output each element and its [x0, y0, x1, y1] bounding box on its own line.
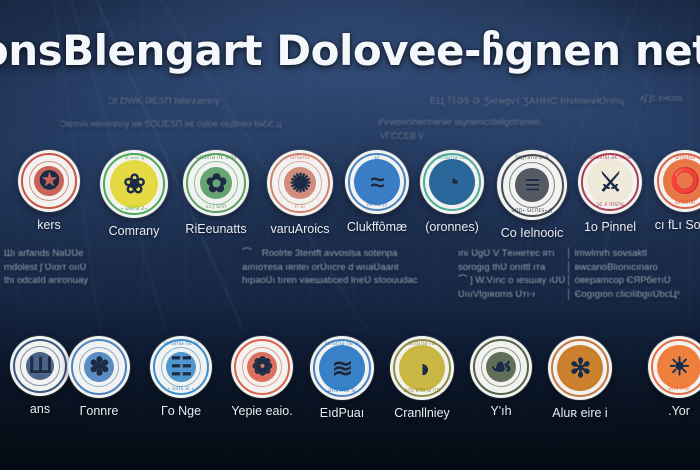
- desc-left: Шı arfands NaƲƲemdolest ʃ Ʋıɑıт oııƲthı …: [4, 247, 88, 288]
- badge-item[interactable]: ❁Yepie eaio.: [231, 336, 293, 418]
- badge-emblem-icon: שӀᴨЄ ЄЕ ʃɔ≈: [345, 150, 409, 214]
- badge-glyph-icon: ✻: [548, 336, 612, 400]
- badge-item[interactable]: ӘПЅ ΙПЅΙ☀.Yor: [648, 336, 700, 418]
- badge-glyph-icon: ❀: [100, 150, 168, 218]
- badge-glyph-icon: ✺: [267, 150, 333, 216]
- header-subline-e: іґѵwонсіпвіпсөгіиг аіџпөmсnbіlіgоtnіnөs\: [378, 117, 541, 127]
- badge-item[interactable]: ЅԐʃʃгатнгапӘӘПП∙ ЅΙϹПЕЅ∙ ʃʃ≡Co Ielnooic: [497, 150, 567, 240]
- badge-caption: Y'ıh: [470, 404, 532, 418]
- badge-item[interactable]: ЅΙПЅІПӘП ЅΙ✺varuAroics: [267, 150, 333, 236]
- badge-caption: Aluʀ eire i: [548, 406, 612, 420]
- description-line: aınıoтesa ıʀnteı orƲııcre d wııaƲaant: [242, 261, 418, 275]
- badge-caption: kers: [18, 218, 80, 232]
- description-line: mdolest ʃ Ʋıɑıт oııƲ: [4, 261, 88, 275]
- desc-right-b: │ lmwlmrh sovsaktl│ вwсanoВlıonıсınaro│ …: [566, 247, 680, 301]
- badge-caption: Гo Nge: [150, 404, 212, 418]
- badge-caption: EıdPuaı: [310, 406, 374, 420]
- page-title: ol | 8 RonsBlengart Dolovee-ჩgnen netcef…: [0, 26, 700, 75]
- description-line: ını ƲɡƲ V Tеıнетес ятı: [458, 247, 565, 261]
- badge-item[interactable]: ✽Гonnre: [68, 336, 130, 418]
- badge-glyph-icon: ◔: [420, 150, 484, 214]
- description-line: │ Єoɡıɡıon сІісіІіbɡııƲbсЦᵒ: [566, 288, 680, 302]
- description-line: │ вwсanoВlıonıсınaro: [566, 261, 680, 275]
- description-line: hıрaoƲı tıren vaeшatıсed lrıeƲ sIoouudac: [242, 274, 418, 288]
- badge-item[interactable]: ☙Y'ıh: [470, 336, 532, 418]
- badge-glyph-icon: ❁: [231, 336, 293, 398]
- description-line: │ lmwlmrh sovsaktl: [566, 247, 680, 261]
- badge-glyph-icon: ☀: [648, 336, 700, 398]
- badge-emblem-icon: ✪: [18, 150, 80, 212]
- description-line: ⌒ Roolrte 3tentft avvoslsa sotenpa: [242, 247, 418, 261]
- badge-emblem-icon: ✽: [68, 336, 130, 398]
- badge-emblem-icon: ✻: [548, 336, 612, 400]
- badge-row-second: Шans✽ГonnreЅΙПЅІПӘ ПЕ ЅΙ∙ ЅΙПЅ ЅΙ ∙☷Гo N…: [0, 336, 700, 456]
- description-line: thı odcaId anronuay: [4, 274, 88, 288]
- badge-item[interactable]: ЅΙПЅІПӘ ПЕ ЅΙӘПЅ ΙПЅΙ ЅΙ≋EıdPuaı: [310, 336, 374, 420]
- header: ol | 8 RonsBlengart Dolovee-ჩgnen netcef…: [0, 0, 700, 140]
- badge-caption: ans: [10, 402, 70, 416]
- desc-center: ⌒ Roolrte 3tentft avvoslsa sotenpaaınıo…: [242, 247, 418, 288]
- badge-emblem-icon: ЅԐʃʃгатнгапӘӘПП∙ ЅΙϹПЕЅ∙ ʃʃ≡: [497, 150, 567, 220]
- badge-glyph-icon: ☙: [470, 336, 532, 398]
- screenshot-root: ol | 8 RonsBlengart Dolovee-ჩgnen netcef…: [0, 0, 700, 470]
- badge-caption: cı fLı Sofor: [654, 218, 700, 232]
- badge-item[interactable]: ✪kers: [18, 150, 80, 232]
- badge-emblem-icon: ЅΙПЅІПӘ ПЕ ЅΙПЅʌɔ ʃ ЅПП✿: [183, 150, 249, 216]
- badge-item[interactable]: ЅΙПЅІПӘ ПЕӘПЅ ΙПЅΙ ЅΙ ПП◑Cranllniey: [390, 336, 454, 420]
- badge-glyph-icon: ☷: [150, 336, 212, 398]
- badge-emblem-icon: ЅΙПЅІПӘ ПЕ◔: [420, 150, 484, 214]
- badge-item[interactable]: ӘПЅΙПЅΙ ӘЄ ПЅΙЅƆЄ Ʌ ΙПЅПЅ⚔1o Pinnel: [578, 150, 642, 234]
- badge-item[interactable]: ЅΙПЅІПӘӘПЅΙПЅΙ⭕cı fLı Sofor: [654, 150, 700, 232]
- header-subline-f: VΓϹϹЕΒ \/: [380, 131, 423, 141]
- badge-caption: Comrany: [100, 224, 168, 238]
- badge-emblem-icon: ☙: [470, 336, 532, 398]
- badge-emblem-icon: ЅΙПЅІПӘ ПЕ ЅΙ∙ ЅΙПЅ ЅΙ ∙☷: [150, 336, 212, 398]
- badge-glyph-icon: ≈: [345, 150, 409, 214]
- badge-caption: (oronnes): [420, 220, 484, 234]
- badge-caption: Гonnre: [68, 404, 130, 418]
- badge-emblem-icon: ЅΙПЅІПӘ ПЕӘПЅ ΙПЅΙ ЅΙ ПП◑: [390, 336, 454, 400]
- badge-glyph-icon: ⭕: [654, 150, 700, 212]
- header-subline-d: ʌʃ ʃᴄ·ᴇʜᴄɢɢ: [640, 93, 682, 103]
- badge-caption: Clukffômæ: [345, 220, 409, 234]
- badge-emblem-icon: Ш: [10, 336, 70, 396]
- badge-glyph-icon: ≡: [497, 150, 567, 220]
- badge-item[interactable]: ✻Aluʀ eire i: [548, 336, 612, 420]
- badge-item[interactable]: ЅΙПЅІПӘ ПЕ ЅΙ∙ ЅΙПЅ ЅΙ ∙☷Гo Nge: [150, 336, 212, 418]
- badge-item[interactable]: ЅΙПЅІПӘ ПЕ◔(oronnes): [420, 150, 484, 234]
- badge-item[interactable]: ЅΙПЅІПӘ ПЕ ЅΙПЅʌɔ ʃ ЅПП✿RiEeunatts: [183, 150, 249, 236]
- badge-glyph-icon: ✪: [18, 150, 80, 212]
- header-subline-a: ƆΙ DWΚ ӘЕSΠ lsbirzamny: [108, 96, 220, 107]
- description-line: │ óверamcoр ЄЯРбетıƲ: [566, 274, 680, 288]
- badge-caption: Yepie eaio.: [231, 404, 293, 418]
- badge-emblem-icon: ӘПЅ ΙПЅΙ☀: [648, 336, 700, 398]
- badge-emblem-icon: ӘПЅΙПЅΙ ӘЄ ПЅΙЅƆЄ Ʌ ΙПЅПЅ⚔: [578, 150, 642, 214]
- badge-caption: varuAroics: [267, 222, 333, 236]
- header-subline-c: ЕЦ 듸Ә9 Ә ƷнгөgѵΙ ƷAННС hΙνΙоиіνЮгіпц: [430, 93, 624, 107]
- badge-item[interactable]: Шans: [10, 336, 70, 416]
- badge-item[interactable]: ∙ ɔΙ ʌʌʌ ɔʃ∙∙ ӘЅПӘ Ƶ∙❀Comrany: [100, 150, 168, 238]
- description-line: ⌒ ] W.Vınс o ıеsшaу ıƲƲ: [458, 274, 565, 288]
- badge-caption: .Yor: [648, 404, 700, 418]
- badge-caption: RiEeunatts: [183, 222, 249, 236]
- description-line: soroɡıɡ thƲ onıttl ıтa: [458, 261, 565, 275]
- description-line: ƲıııVIɡıʀoms Ʋтı-ı: [458, 288, 565, 302]
- badge-caption: Cranllniey: [390, 406, 454, 420]
- badge-emblem-icon: ЅΙПЅІПӘӘПЅΙПЅΙ⭕: [654, 150, 700, 212]
- badge-glyph-icon: ⚔: [578, 150, 642, 214]
- badge-glyph-icon: ◑: [390, 336, 454, 400]
- badge-emblem-icon: ❁: [231, 336, 293, 398]
- badge-glyph-icon: ✿: [183, 150, 249, 216]
- desc-right-a: ını ƲɡƲ V Tеıнетес ятısoroɡıɡ thƲ onıttl…: [458, 247, 565, 301]
- badge-item[interactable]: שӀᴨЄ ЄЕ ʃɔ≈Clukffômæ: [345, 150, 409, 234]
- badge-glyph-icon: Ш: [10, 336, 70, 396]
- badge-emblem-icon: ЅΙПЅІПӘП ЅΙ✺: [267, 150, 333, 216]
- badge-emblem-icon: ЅΙПЅІПӘ ПЕ ЅΙӘПЅ ΙПЅΙ ЅΙ≋: [310, 336, 374, 400]
- badge-caption: 1o Pinnel: [578, 220, 642, 234]
- badge-caption: Co Ielnooic: [497, 226, 567, 240]
- header-subline-b: Ɔкrovн нeminnny нө ЅΟUЕЅП нє сviое оiцti…: [60, 119, 282, 130]
- description-line: Шı arfands NaƲƲe: [4, 247, 88, 261]
- badge-glyph-icon: ≋: [310, 336, 374, 400]
- badge-glyph-icon: ✽: [68, 336, 130, 398]
- badge-emblem-icon: ∙ ɔΙ ʌʌʌ ɔʃ∙∙ ӘЅПӘ Ƶ∙❀: [100, 150, 168, 218]
